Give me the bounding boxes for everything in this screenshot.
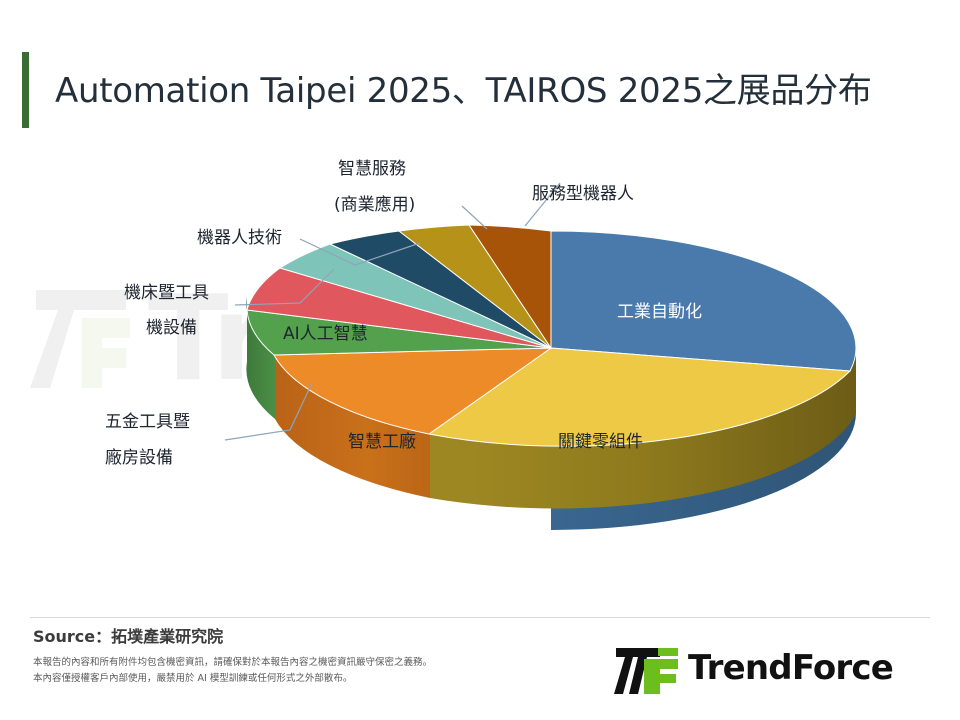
pie-callout-service-robot: 服務型機器人 xyxy=(532,182,634,207)
pie-slice-industrial-automation[interactable] xyxy=(551,231,856,371)
pie-chart: 工業自動化 關鍵零組件 智慧工廠 AI人工智慧 智慧服務 (商業應用) 機器人技… xyxy=(0,140,960,610)
pie-callout-smart-service-line2: (商業應用) xyxy=(334,193,415,218)
disclaimer-line-1: 本報告的內容和所有附件均包含機密資訊，請確保對於本報告內容之機密資訊嚴守保密之義… xyxy=(33,654,432,668)
trendforce-logo-text: TrendForce xyxy=(688,648,893,688)
pie-callout-hardware-line1: 五金工具暨 xyxy=(105,410,190,435)
trendforce-logo-icon xyxy=(614,646,680,696)
slide-canvas: Automation Taipei 2025、TAIROS 2025之展品分布 … xyxy=(0,0,960,720)
pie-label-key-components: 關鍵零組件 xyxy=(558,427,643,452)
pie-callout-machine-tools-line1: 機床暨工具 xyxy=(124,281,209,306)
source-label: Source：拓墣產業研究院 xyxy=(33,623,223,647)
pie-callout-machine-tools-line2: 機設備 xyxy=(146,316,197,341)
pie-label-smart-factory: 智慧工廠 xyxy=(348,427,416,452)
page-title: Automation Taipei 2025、TAIROS 2025之展品分布 xyxy=(55,62,945,120)
footer-divider xyxy=(30,617,930,618)
title-accent-bar xyxy=(22,52,29,128)
trendforce-logo: TrendForce xyxy=(614,646,934,698)
pie-label-industrial-automation: 工業自動化 xyxy=(617,297,702,322)
pie-callout-hardware-line2: 廠房設備 xyxy=(105,446,173,471)
pie-chart-svg xyxy=(0,140,960,610)
pie-label-ai: AI人工智慧 xyxy=(283,319,368,344)
pie-callout-smart-service-line1: 智慧服務 xyxy=(338,157,406,182)
pie-callout-robotics: 機器人技術 xyxy=(197,226,282,251)
disclaimer-line-2: 本內容僅授權客戶內部使用，嚴禁用於 AI 模型訓練或任何形式之外部散布。 xyxy=(33,670,352,684)
